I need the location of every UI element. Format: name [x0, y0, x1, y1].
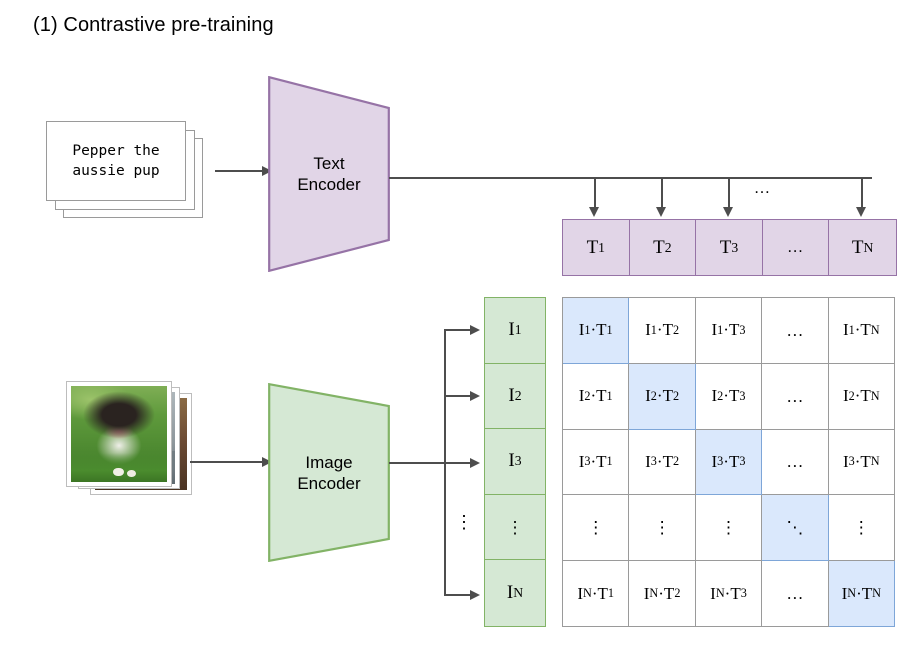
image-encoder-block[interactable]: Image Encoder — [268, 383, 390, 562]
image-embedding-cell: ⋮ — [485, 495, 545, 561]
matrix-cell: … — [762, 430, 828, 496]
matrix-cell: IN·T2 — [629, 561, 695, 627]
matrix-cell: … — [762, 364, 828, 430]
matrix-cell: I2·T1 — [563, 364, 629, 430]
t1-branch-line — [594, 178, 596, 208]
tn-branch-line — [861, 178, 863, 208]
matrix-cell: I3·TN — [829, 430, 895, 496]
matrix-cell: IN·T3 — [696, 561, 762, 627]
t1-arrowhead — [589, 207, 599, 217]
image-embedding-column: I1I2I3⋮IN — [484, 297, 546, 627]
matrix-cell: … — [762, 298, 828, 364]
i3-arrowhead — [470, 458, 480, 468]
text-embedding-cell: T2 — [630, 220, 697, 275]
matrix-cell: ⋱ — [762, 495, 828, 561]
image-to-encoder-line — [190, 461, 265, 463]
matrix-cell: I1·T2 — [629, 298, 695, 364]
tn-arrowhead — [856, 207, 866, 217]
matrix-cell: I3·T3 — [696, 430, 762, 496]
text-embedding-trunk — [389, 177, 872, 179]
text-encoder-line1: Text — [313, 153, 344, 174]
matrix-cell: ⋮ — [629, 495, 695, 561]
text-encoder-label: Text Encoder — [268, 76, 390, 272]
text-sample-label: Pepper the aussie pup — [46, 121, 186, 201]
matrix-cell: … — [762, 561, 828, 627]
matrix-cell: I1·T1 — [563, 298, 629, 364]
text-to-encoder-line — [215, 170, 265, 172]
diagram-canvas: (1) Contrastive pre-training Pepper the … — [0, 0, 906, 654]
image-embedding-cell: I3 — [485, 429, 545, 495]
t2-arrowhead — [656, 207, 666, 217]
matrix-cell: ⋮ — [563, 495, 629, 561]
i2-arrowhead — [470, 391, 480, 401]
matrix-cell: ⋮ — [829, 495, 895, 561]
matrix-cell: ⋮ — [696, 495, 762, 561]
image-embedding-cell: IN — [485, 560, 545, 626]
image-card-front — [67, 382, 171, 486]
matrix-cell: I2·T3 — [696, 364, 762, 430]
t3-arrowhead — [723, 207, 733, 217]
puppy-photo-paw-left — [113, 468, 124, 477]
t2-branch-line — [661, 178, 663, 208]
page-title: (1) Contrastive pre-training — [33, 14, 274, 37]
text-embedding-cell: T3 — [696, 220, 763, 275]
text-embedding-cell: TN — [829, 220, 896, 275]
image-branch-ellipsis: ⋮ — [455, 512, 473, 533]
matrix-cell: I2·T2 — [629, 364, 695, 430]
image-encoder-label: Image Encoder — [268, 383, 390, 562]
matrix-cell: IN·TN — [829, 561, 895, 627]
in-arrowhead — [470, 590, 480, 600]
matrix-cell: I2·TN — [829, 364, 895, 430]
matrix-cell: I3·T2 — [629, 430, 695, 496]
i1-arrowhead — [470, 325, 480, 335]
text-branch-ellipsis: … — [754, 180, 771, 198]
t3-branch-line — [728, 178, 730, 208]
image-embedding-trunk — [389, 462, 445, 464]
image-embedding-cell: I1 — [485, 298, 545, 364]
text-encoder-line2: Encoder — [297, 174, 360, 195]
matrix-cell: IN·T1 — [563, 561, 629, 627]
image-encoder-line1: Image — [305, 452, 352, 473]
text-embedding-cell: … — [763, 220, 830, 275]
similarity-matrix: I1·T1I1·T2I1·T3…I1·TNI2·T1I2·T2I2·T3…I2·… — [562, 297, 895, 627]
matrix-cell: I1·TN — [829, 298, 895, 364]
text-embedding-cell: T1 — [563, 220, 630, 275]
text-embedding-row: T1T2T3…TN — [562, 219, 897, 276]
text-encoder-block[interactable]: Text Encoder — [268, 76, 390, 272]
matrix-cell: I3·T1 — [563, 430, 629, 496]
image-embedding-cell: I2 — [485, 364, 545, 430]
matrix-cell: I1·T3 — [696, 298, 762, 364]
image-encoder-line2: Encoder — [297, 473, 360, 494]
